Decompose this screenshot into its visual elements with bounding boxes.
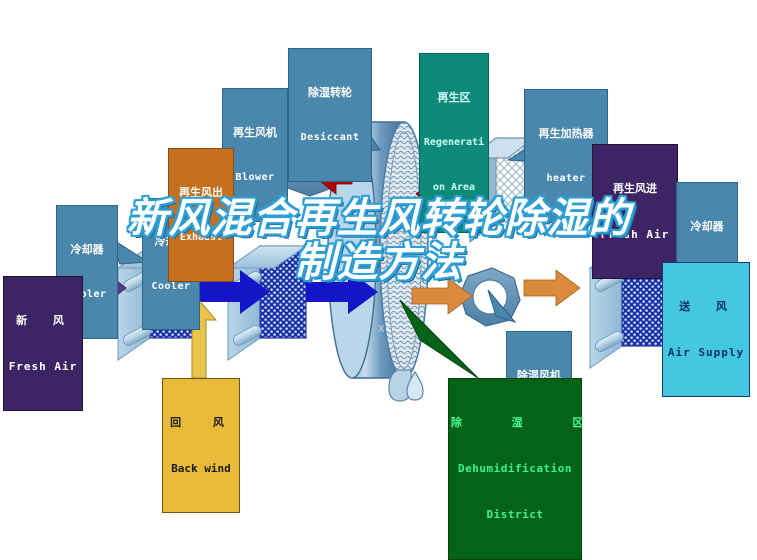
label-back-wind-cn: 回 风 [165, 417, 237, 429]
watermark-text: xt [378, 320, 392, 335]
label-cooler-right-cn: 冷却器 [679, 221, 735, 233]
label-exhaust-en: Exhaust [171, 233, 231, 244]
label-exhaust-cn: 再生风出 [171, 187, 231, 199]
label-fresh-air: 新 风 Fresh Air [3, 276, 83, 411]
label-regen-area-en-2: on Area [422, 183, 486, 194]
label-regen-area-cn: 再生区 [422, 92, 486, 104]
label-exhaust: 再生风出 Exhaust [168, 148, 234, 282]
label-fresh-air-cn: 新 风 [6, 315, 80, 327]
label-desiccant-cn: 除湿转轮 [291, 87, 369, 99]
label-desiccant-rotor: 除湿转轮 Desiccant [288, 48, 372, 182]
label-regeneration-fresh-air: 再生风进 Fresh Air [592, 144, 678, 279]
label-desiccant-en: Desiccant [291, 133, 369, 144]
label-air-supply-cn: 送 风 [665, 301, 747, 313]
label-regeneration-area: 再生区 Regenerati on Area [419, 53, 489, 233]
rotor-drain-duct [389, 370, 423, 401]
label-dehumidification-district: 除 湿 区 Dehumidification District [448, 378, 582, 560]
arrow-blower-to-cooler-right [524, 270, 580, 306]
label-cooler-left-2-en: Cooler [145, 282, 197, 293]
label-dehumid-area-en-2: District [451, 509, 579, 521]
label-air-supply-en: Air Supply [665, 347, 747, 359]
label-regen-blower-cn: 再生风机 [225, 127, 285, 139]
label-back-wind: 回 风 Back wind [162, 378, 240, 513]
label-back-wind-en: Back wind [165, 463, 237, 475]
cooler-coil-left-2 [228, 246, 306, 360]
label-regen-area-en-1: Regenerati [422, 138, 486, 149]
label-regen-fresh-en: Fresh Air [595, 229, 675, 241]
label-air-supply: 送 风 Air Supply [662, 262, 750, 397]
label-dehumid-area-en-1: Dehumidification [451, 463, 579, 475]
label-fresh-air-en: Fresh Air [6, 361, 80, 373]
label-regen-fresh-cn: 再生风进 [595, 183, 675, 195]
label-cooler-left-1-cn: 冷却器 [59, 244, 115, 256]
diagram-canvas: xt 除湿转轮 Desiccant 再生风机 Blower 再生区 Regene… [0, 0, 757, 488]
label-dehumid-area-cn: 除 湿 区 [451, 417, 579, 429]
label-regen-heater-cn: 再生加热器 [527, 128, 605, 140]
label-regen-blower-en: Blower [225, 173, 285, 184]
